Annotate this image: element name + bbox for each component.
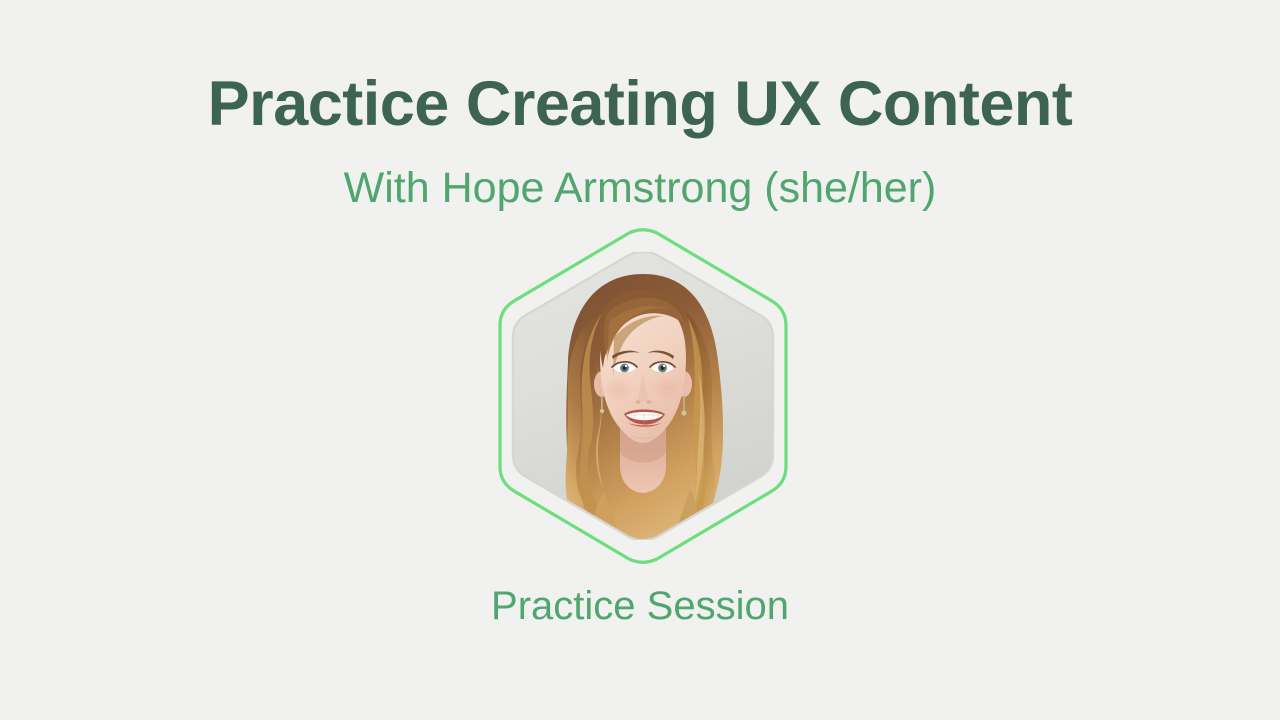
session-type-caption: Practice Session xyxy=(0,580,1280,632)
presentation-slide: Practice Creating UX Content With Hope A… xyxy=(0,0,1280,720)
page-title: Practice Creating UX Content xyxy=(0,66,1280,143)
presenter-portrait xyxy=(493,229,793,563)
presenter-photo xyxy=(508,252,778,540)
presenter-subtitle: With Hope Armstrong (she/her) xyxy=(0,161,1280,216)
